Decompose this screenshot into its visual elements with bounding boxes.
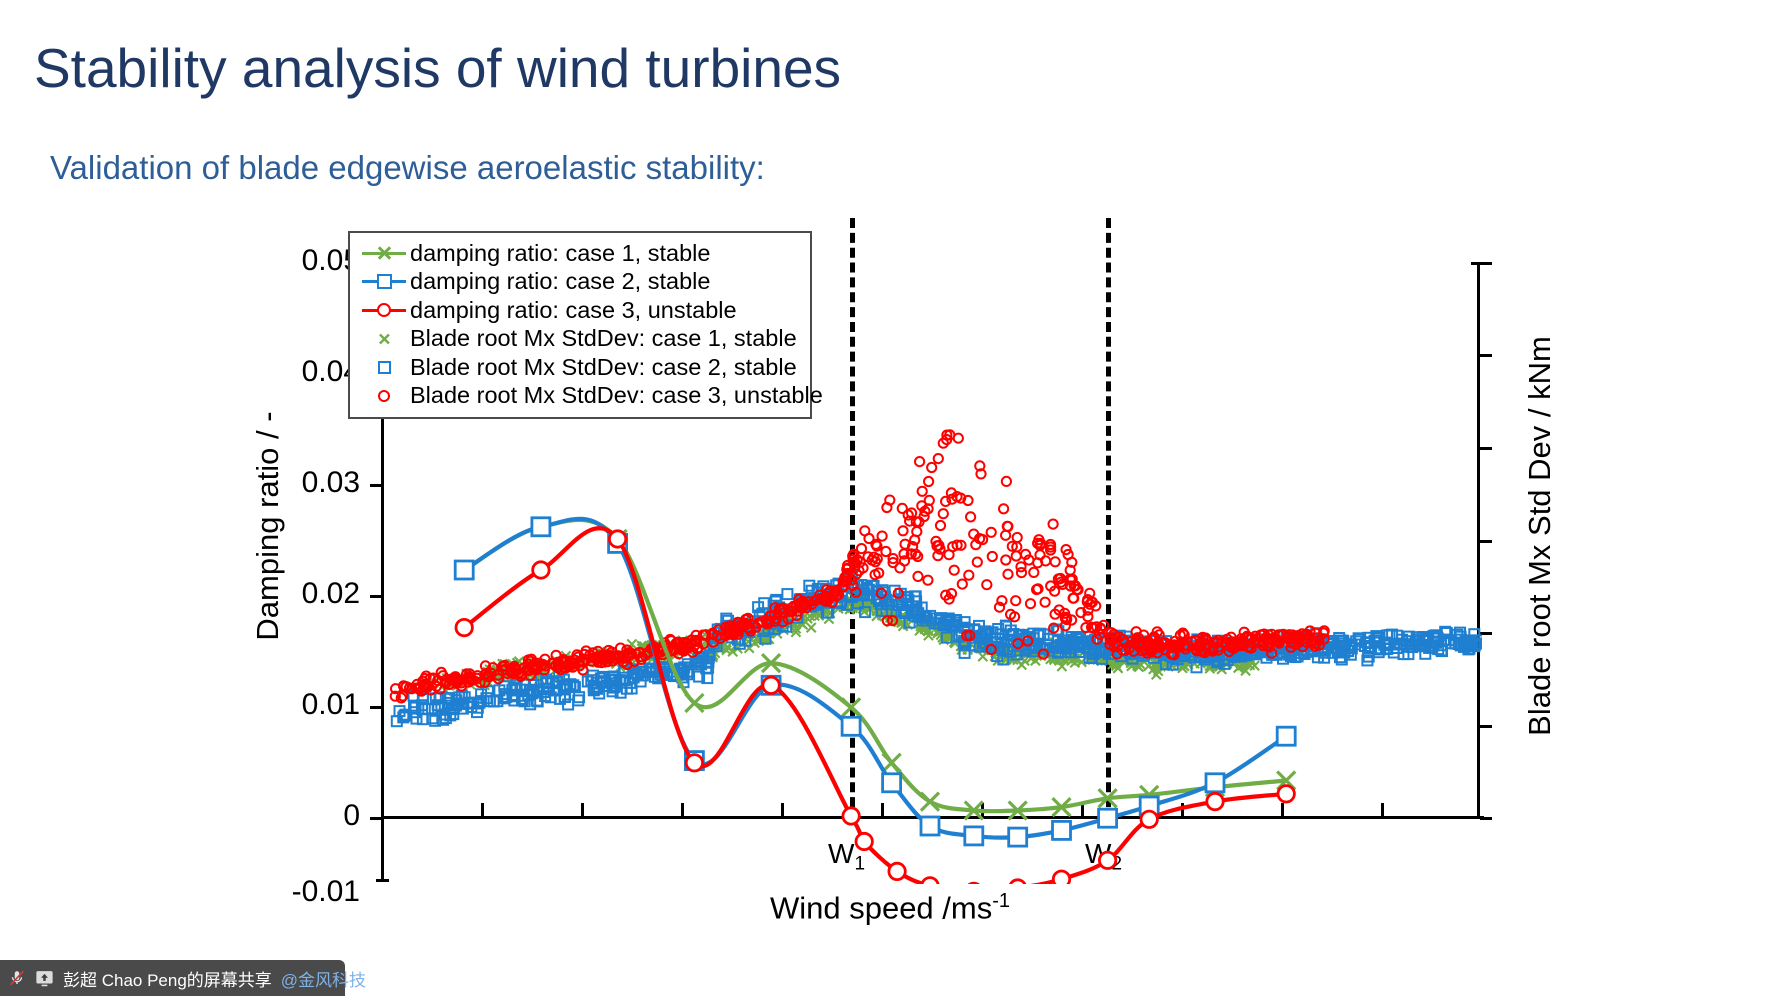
legend-label: damping ratio: case 2, stable [410, 268, 710, 295]
legend-label: damping ratio: case 3, unstable [410, 297, 737, 324]
y-axis-tick-label: 0.01 [220, 688, 360, 722]
y-axis-tick-label: 0.04 [220, 355, 360, 389]
legend-label: Blade root Mx StdDev: case 3, unstable [410, 382, 823, 409]
page-title: Stability analysis of wind turbines [34, 36, 841, 100]
legend-item-4: Blade root Mx StdDev: case 2, stable [358, 353, 802, 382]
legend-item-0: damping ratio: case 1, stable [358, 239, 802, 268]
legend-marker-line-square-blue-icon [358, 268, 410, 296]
secondary-y-axis-title: Blade root Mx Std Dev / kNm [1522, 266, 1558, 806]
screen-share-taskbar[interactable]: 彭超 Chao Peng的屏幕共享 @金风科技 [0, 960, 345, 996]
chart-legend: damping ratio: case 1, stable damping ra… [348, 231, 812, 419]
y-axis-tick-label: 0.05 [220, 244, 360, 278]
legend-marker-circle-red-icon [358, 382, 410, 410]
legend-item-1: damping ratio: case 2, stable [358, 268, 802, 297]
presentation-slide: Stability analysis of wind turbines Vali… [0, 0, 1768, 996]
legend-label: Blade root Mx StdDev: case 1, stable [410, 325, 797, 352]
y-axis-tick-label: 0 [220, 799, 360, 833]
screen-share-icon[interactable] [35, 970, 54, 987]
y-tick-0 [370, 817, 382, 820]
slide-subtitle: Validation of blade edgewise aeroelastic… [50, 146, 765, 190]
stability-chart: 0.05 0.04 0.03 0.02 0.01 0 -0.01 W1 W2 [230, 218, 1570, 938]
share-owner-label: 彭超 Chao Peng的屏幕共享 [63, 966, 272, 991]
x-axis-title: Wind speed /ms-1 [610, 890, 1170, 926]
y-axis-tick-label: 0.02 [220, 577, 360, 611]
legend-item-2: damping ratio: case 3, unstable [358, 296, 802, 325]
y-axis-tick-label: 0.03 [220, 466, 360, 500]
microphone-muted-icon[interactable] [8, 969, 26, 987]
y-tick-0.03 [370, 484, 382, 487]
legend-label: Blade root Mx StdDev: case 2, stable [410, 354, 797, 381]
legend-item-3: Blade root Mx StdDev: case 1, stable [358, 325, 802, 354]
y-axis-tick-label: -0.01 [220, 875, 360, 909]
y-axis-title: Damping ratio / - [250, 266, 286, 786]
y-tick-0.01 [370, 706, 382, 709]
damping-ratio-curves [455, 518, 1295, 884]
legend-marker-line-x-green-icon [358, 239, 410, 267]
legend-marker-x-green-icon [358, 325, 410, 353]
y-tick-0.02 [370, 595, 382, 598]
legend-item-5: Blade root Mx StdDev: case 3, unstable [358, 382, 802, 411]
legend-label: damping ratio: case 1, stable [410, 240, 710, 267]
legend-marker-square-blue-icon [358, 353, 410, 381]
share-org-label: @金风科技 [281, 966, 366, 991]
legend-marker-line-circle-red-icon [358, 296, 410, 324]
